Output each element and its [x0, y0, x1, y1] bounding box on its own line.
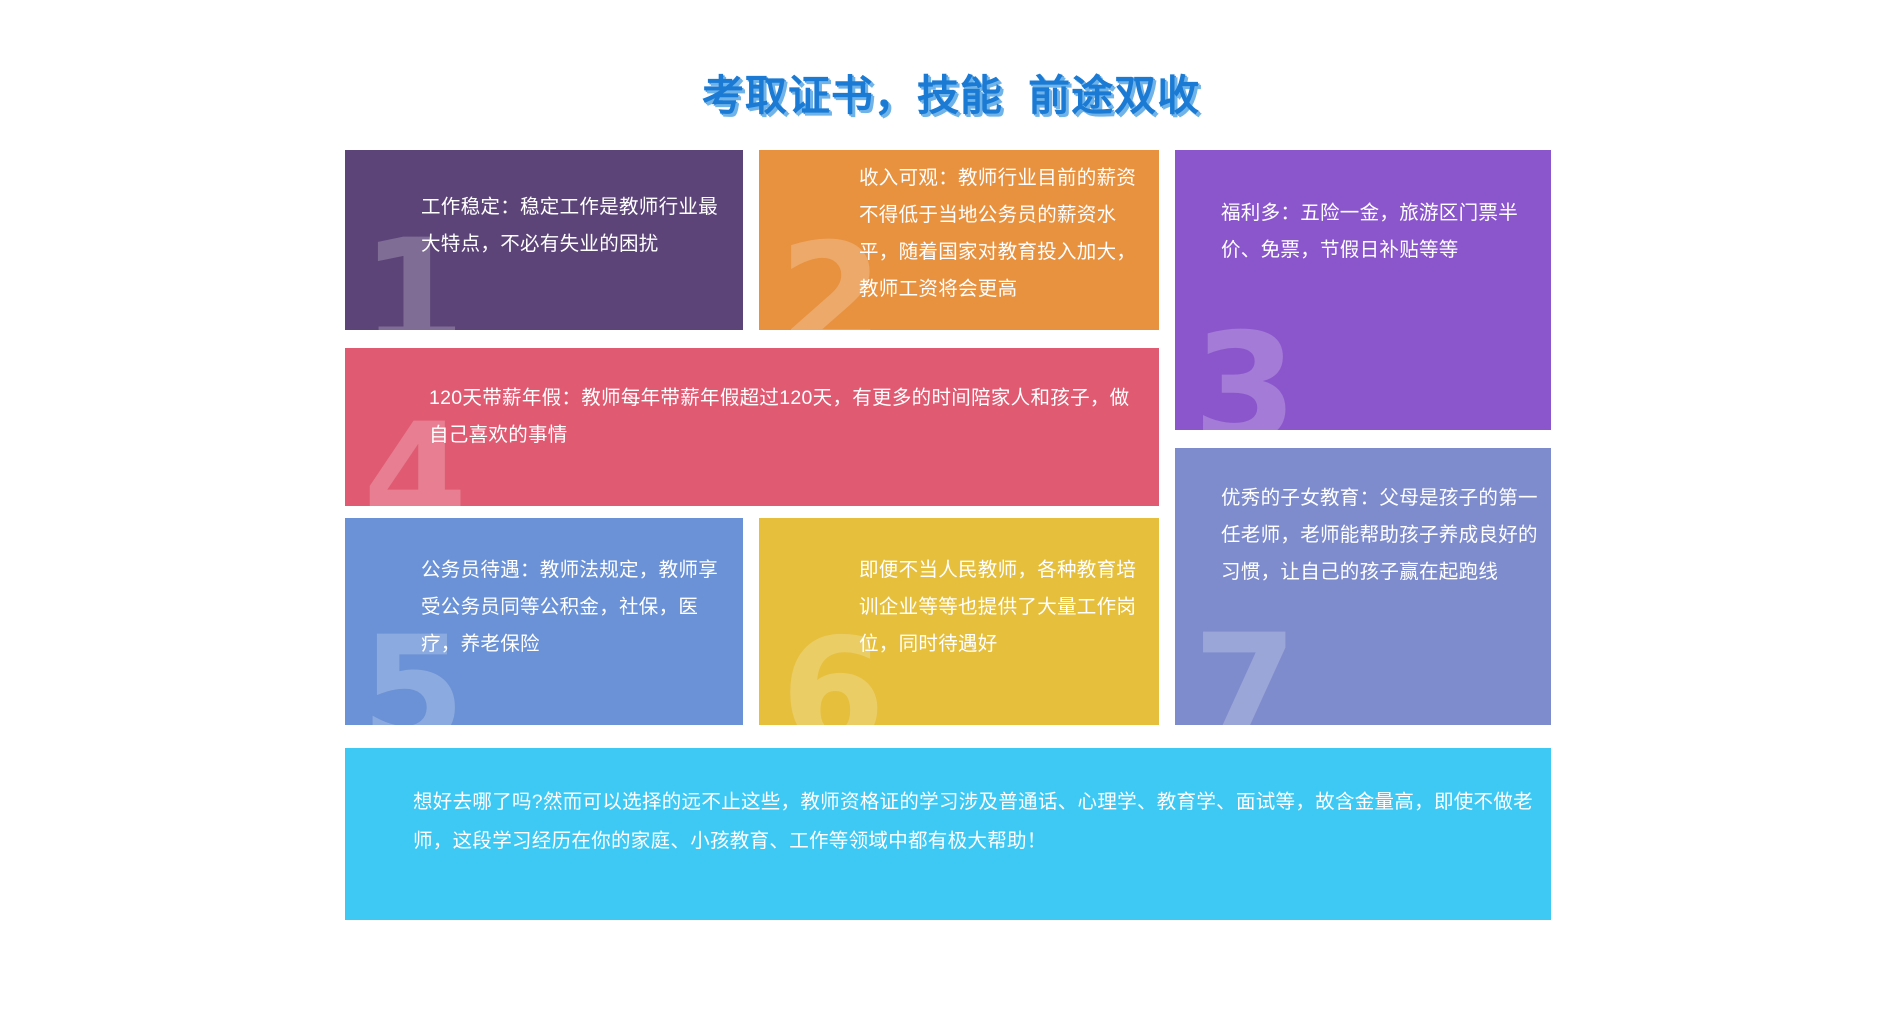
card-number-watermark-7: 7	[1193, 615, 1297, 725]
card-text-2: 收入可观：教师行业目前的薪资不得低于当地公务员的薪资水平，随着国家对教育投入加大…	[859, 160, 1151, 308]
benefits-card-grid: 1 工作稳定：稳定工作是教师行业最大特点，不必有失业的困扰 2 收入可观：教师行…	[345, 150, 1551, 920]
summary-banner[interactable]: 想好去哪了吗?然而可以选择的远不止这些，教师资格证的学习涉及普通话、心理学、教育…	[345, 748, 1551, 920]
card-text-6: 即便不当人民教师，各种教育培训企业等等也提供了大量工作岗位，同时待遇好	[859, 552, 1151, 663]
benefit-card-6[interactable]: 6 即便不当人民教师，各种教育培训企业等等也提供了大量工作岗位，同时待遇好	[759, 518, 1159, 725]
benefit-card-7[interactable]: 7 优秀的子女教育：父母是孩子的第一任老师，老师能帮助孩子养成良好的习惯，让自己…	[1175, 448, 1551, 725]
page-title-container: 考取证书，技能 前途双收	[0, 62, 1902, 123]
benefit-card-2[interactable]: 2 收入可观：教师行业目前的薪资不得低于当地公务员的薪资水平，随着国家对教育投入…	[759, 150, 1159, 330]
page-title: 考取证书，技能 前途双收	[702, 62, 1200, 123]
card-number-watermark-3: 3	[1193, 314, 1297, 430]
card-text-1: 工作稳定：稳定工作是教师行业最大特点，不必有失业的困扰	[421, 189, 731, 263]
summary-banner-text: 想好去哪了吗?然而可以选择的远不止这些，教师资格证的学习涉及普通话、心理学、教育…	[413, 783, 1535, 861]
card-text-4: 120天带薪年假：教师每年带薪年假超过120天，有更多的时间陪家人和孩子，做自己…	[429, 380, 1139, 454]
benefit-card-4[interactable]: 4 120天带薪年假：教师每年带薪年假超过120天，有更多的时间陪家人和孩子，做…	[345, 348, 1159, 506]
card-text-5: 公务员待遇：教师法规定，教师享受公务员同等公积金，社保，医疗，养老保险	[421, 552, 731, 663]
benefit-card-3[interactable]: 3 福利多：五险一金，旅游区门票半价、免票，节假日补贴等等	[1175, 150, 1551, 430]
card-text-3: 福利多：五险一金，旅游区门票半价、免票，节假日补贴等等	[1221, 195, 1541, 269]
benefit-card-5[interactable]: 5 公务员待遇：教师法规定，教师享受公务员同等公积金，社保，医疗，养老保险	[345, 518, 743, 725]
benefit-card-1[interactable]: 1 工作稳定：稳定工作是教师行业最大特点，不必有失业的困扰	[345, 150, 743, 330]
card-text-7: 优秀的子女教育：父母是孩子的第一任老师，老师能帮助孩子养成良好的习惯，让自己的孩…	[1221, 480, 1541, 591]
